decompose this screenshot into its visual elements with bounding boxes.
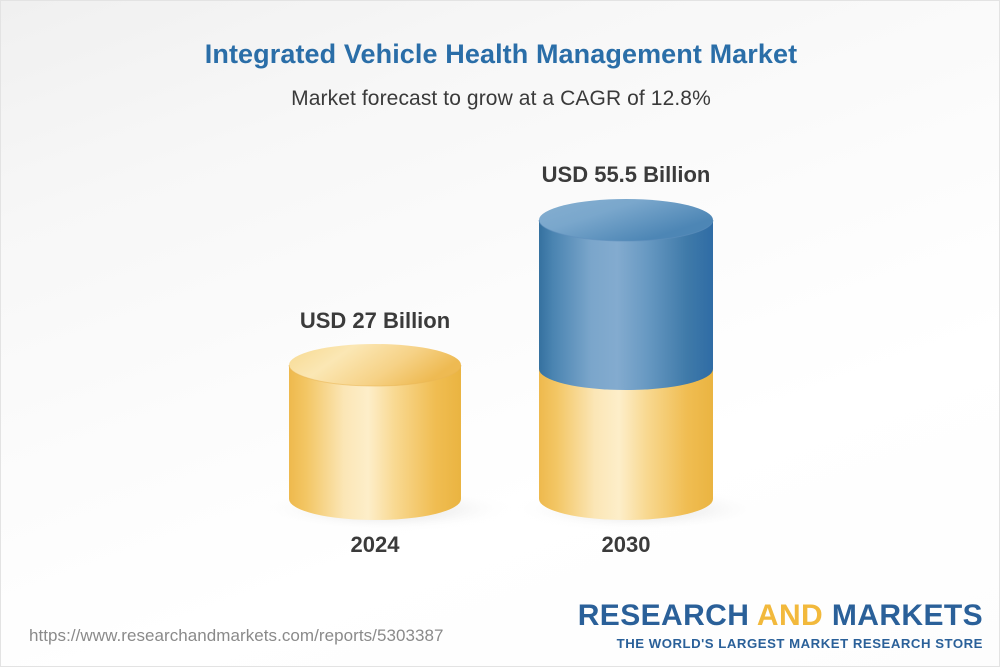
bar-2024[interactable] [264, 344, 514, 531]
cylinder-bar-chart [1, 1, 1000, 667]
bar-2030[interactable] [513, 199, 765, 531]
bar-2024-body [289, 365, 461, 520]
infographic-canvas: Integrated Vehicle Health Management Mar… [0, 0, 1000, 667]
bar-value-label-2024: USD 27 Billion [289, 308, 461, 334]
brand-logo[interactable]: RESEARCH AND MARKETS THE WORLD'S LARGEST… [578, 601, 983, 650]
bar-value-label-2030: USD 55.5 Billion [539, 162, 713, 188]
bar-category-label-2024: 2024 [289, 532, 461, 558]
report-url[interactable]: https://www.researchandmarkets.com/repor… [29, 626, 443, 646]
brand-tagline: THE WORLD'S LARGEST MARKET RESEARCH STOR… [578, 637, 983, 650]
brand-name-and: AND [757, 599, 823, 632]
bar-2030-segment-blue [539, 220, 713, 390]
chart-svg [1, 1, 1000, 667]
brand-name-part2: MARKETS [823, 599, 983, 632]
brand-name: RESEARCH AND MARKETS [578, 601, 983, 631]
brand-name-part1: RESEARCH [578, 599, 757, 632]
bar-category-label-2030: 2030 [539, 532, 713, 558]
bar-2030-segment-gold [539, 369, 713, 520]
